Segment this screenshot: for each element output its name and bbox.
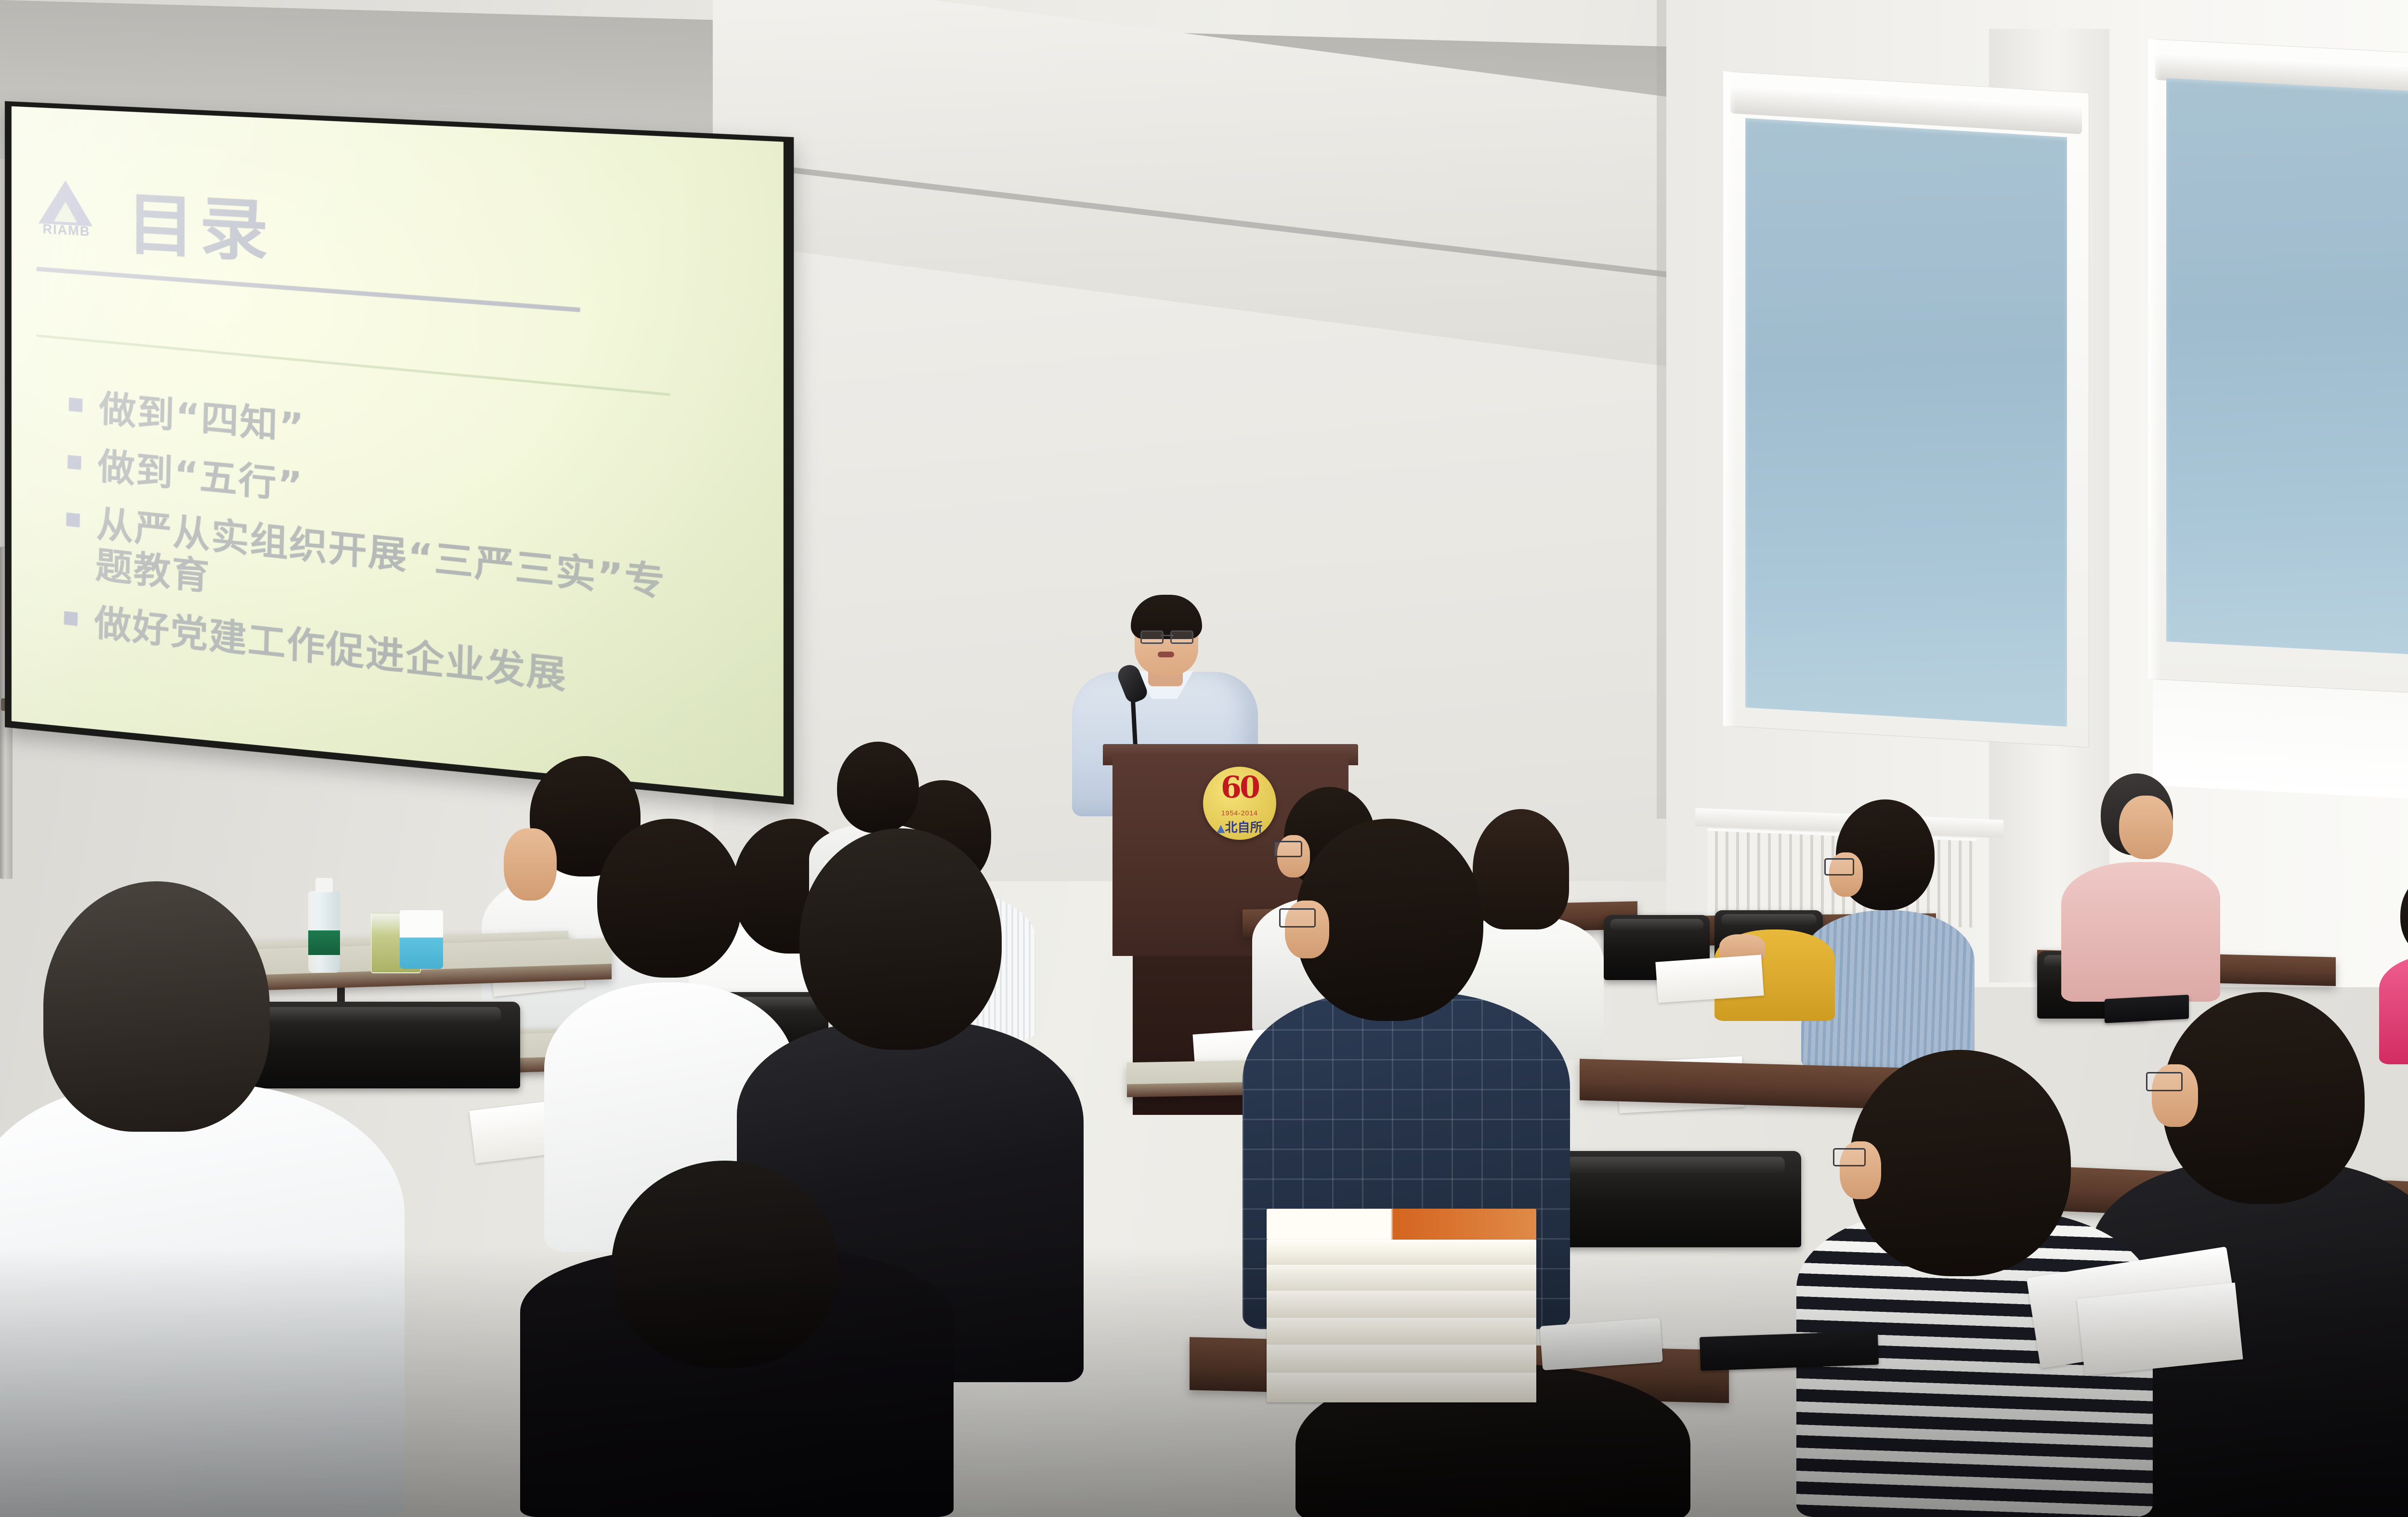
book-stack-front — [1267, 1209, 1536, 1411]
slide-title: 目录 — [127, 169, 273, 275]
window-right — [2148, 39, 2408, 698]
bullet-marker-icon — [67, 455, 81, 470]
speaker-mouth — [1158, 652, 1174, 657]
smartphone[interactable] — [1540, 1318, 1663, 1370]
paper-handout — [1655, 955, 1764, 1003]
secondary-rule — [37, 334, 670, 396]
bullet-marker-icon — [64, 611, 78, 626]
riamb-logo: RIAMB — [35, 179, 98, 240]
wall-corner — [1657, 0, 1666, 819]
window-light-edge — [2148, 39, 2161, 680]
presentation-slide: RIAMB 目录 做到“四知” 做到“五行” 从 — [12, 106, 784, 797]
attendee-pink-top — [2379, 872, 2408, 1064]
attendee-front-left-white-shirt — [0, 881, 405, 1517]
bullet-marker-icon — [69, 397, 83, 412]
chair[interactable] — [1531, 1151, 1801, 1247]
attendee-foreground-silhouette — [520, 1161, 954, 1517]
paper-cup — [400, 910, 443, 969]
org-mark-icon: ▲ — [1217, 823, 1225, 835]
window-left — [1723, 71, 2089, 747]
bullet-marker-icon — [66, 512, 80, 527]
projection-screen: RIAMB 目录 做到“四知” 做到“五行” 从 — [5, 101, 802, 826]
black-notebook — [1700, 1331, 1879, 1371]
title-underline — [37, 267, 580, 312]
window-light-edge — [1723, 71, 1736, 727]
glasses-icon — [1140, 630, 1193, 642]
bullet-text: 做到“五行” — [97, 445, 304, 507]
roller-blind[interactable] — [1745, 118, 2068, 727]
meeting-room-photo: RIAMB 目录 做到“四知” 做到“五行” 从 — [0, 0, 2408, 1517]
attendee-pink-striped — [2061, 771, 2220, 1002]
triangle-inner-icon — [54, 201, 77, 222]
riamb-wordmark: RIAMB — [38, 222, 96, 240]
slide-bullet-list: 做到“四知” 做到“五行” 从严从实组织开展“三严三实”专题教育 做好党建工作促… — [63, 385, 749, 734]
bullet-text: 做到“四知” — [99, 388, 305, 448]
roller-blind[interactable] — [2166, 78, 2408, 659]
screen-surface: RIAMB 目录 做到“四知” 做到“五行” 从 — [12, 106, 784, 797]
